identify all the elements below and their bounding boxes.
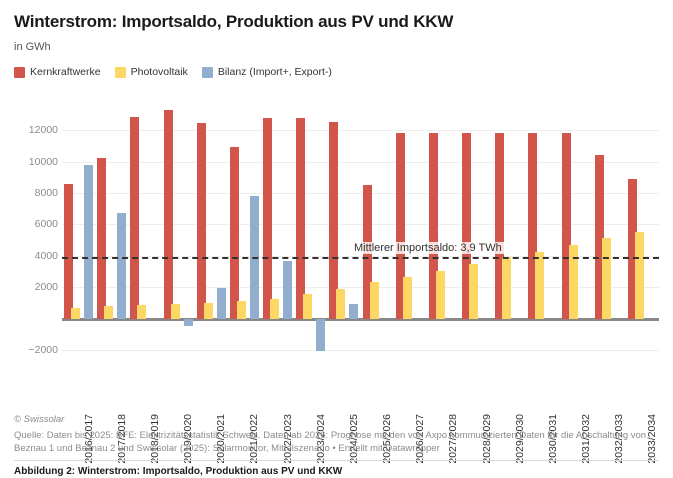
- bar-photovoltaik[interactable]: [71, 308, 80, 319]
- bar-group: [62, 105, 95, 350]
- bar-group: [361, 105, 394, 350]
- bar-photovoltaik[interactable]: [104, 306, 113, 318]
- credit-text: © Swissolar: [14, 414, 659, 426]
- bar-bilanz[interactable]: [349, 304, 358, 319]
- bar-bilanz[interactable]: [117, 213, 126, 318]
- bar-kernkraftwerke[interactable]: [164, 110, 173, 319]
- bar-group: [593, 105, 626, 350]
- y-tick-label-12000: 12000: [12, 124, 58, 136]
- bar-photovoltaik[interactable]: [469, 264, 478, 319]
- annotation-label: Mittlerer Importsaldo: 3,9 TWh: [352, 242, 504, 254]
- plot-canvas: Mittlerer Importsaldo: 3,9 TWh: [62, 105, 659, 350]
- legend-label-kernkraftwerke: Kernkraftwerke: [30, 66, 101, 78]
- bar-photovoltaik[interactable]: [602, 238, 611, 319]
- legend-label-photovoltaik: Photovoltaik: [131, 66, 188, 78]
- bar-photovoltaik[interactable]: [370, 282, 379, 318]
- legend-item-photovoltaik[interactable]: Photovoltaik: [115, 66, 188, 78]
- plot-area: Mittlerer Importsaldo: 3,9 TWh −20002000…: [14, 105, 659, 350]
- bar-photovoltaik[interactable]: [336, 289, 345, 319]
- legend-label-bilanz: Bilanz (Import+, Export-): [218, 66, 332, 78]
- legend-item-kernkraftwerke[interactable]: Kernkraftwerke: [14, 66, 101, 78]
- bar-bilanz[interactable]: [217, 288, 226, 319]
- bar-group: [162, 105, 195, 350]
- bar-kernkraftwerke[interactable]: [64, 184, 73, 319]
- bar-group: [294, 105, 327, 350]
- bar-photovoltaik[interactable]: [502, 257, 511, 319]
- bar-group: [128, 105, 161, 350]
- legend-item-bilanz[interactable]: Bilanz (Import+, Export-): [202, 66, 332, 78]
- bar-kernkraftwerke[interactable]: [97, 158, 106, 318]
- y-tick-label-2000: 2000: [12, 281, 58, 293]
- bar-photovoltaik[interactable]: [535, 252, 544, 319]
- bar-group: [626, 105, 659, 350]
- chart-title: Winterstrom: Importsaldo, Produktion aus…: [14, 0, 659, 32]
- chart-subtitle: in GWh: [14, 41, 659, 54]
- y-tick-label-10000: 10000: [12, 156, 58, 168]
- bar-photovoltaik[interactable]: [204, 303, 213, 318]
- bar-bilanz[interactable]: [283, 261, 292, 319]
- bar-group: [560, 105, 593, 350]
- bar-bilanz[interactable]: [84, 165, 93, 318]
- bar-photovoltaik[interactable]: [171, 304, 180, 318]
- bar-bilanz[interactable]: [184, 319, 193, 327]
- bar-kernkraftwerke[interactable]: [197, 123, 206, 319]
- bar-groups: [62, 105, 659, 350]
- bar-group: [493, 105, 526, 350]
- y-tick-label-8000: 8000: [12, 187, 58, 199]
- bar-bilanz[interactable]: [316, 319, 325, 351]
- legend-swatch-kernkraftwerke: [14, 67, 25, 78]
- bar-group: [327, 105, 360, 350]
- bar-photovoltaik[interactable]: [270, 299, 279, 319]
- bar-photovoltaik[interactable]: [436, 271, 445, 319]
- bar-kernkraftwerke[interactable]: [263, 118, 272, 318]
- chart-legend: KernkraftwerkePhotovoltaikBilanz (Import…: [14, 65, 659, 79]
- bar-photovoltaik[interactable]: [237, 301, 246, 319]
- y-tick-label-4000: 4000: [12, 250, 58, 262]
- gridline--2000: [62, 350, 659, 351]
- bar-kernkraftwerke[interactable]: [230, 147, 239, 319]
- bar-group: [394, 105, 427, 350]
- y-tick-label--2000: −2000: [12, 344, 58, 356]
- bar-photovoltaik[interactable]: [137, 305, 146, 318]
- chart-page: Winterstrom: Importsaldo, Produktion aus…: [0, 0, 673, 474]
- legend-swatch-bilanz: [202, 67, 213, 78]
- bar-group: [460, 105, 493, 350]
- bar-photovoltaik[interactable]: [635, 232, 644, 318]
- bar-kernkraftwerke[interactable]: [130, 117, 139, 319]
- legend-swatch-photovoltaik: [115, 67, 126, 78]
- y-tick-label-6000: 6000: [12, 218, 58, 230]
- figure-caption: Abbildung 2: Winterstrom: Importsaldo, P…: [14, 460, 659, 478]
- bar-group: [195, 105, 228, 350]
- x-axis-labels: 2016/20172017/20182018/20192019/20202020…: [62, 352, 673, 418]
- chart-footer: © Swissolar Quelle: Daten bis 2025: BFE:…: [14, 414, 659, 478]
- annotation-line: [62, 257, 659, 259]
- bar-photovoltaik[interactable]: [569, 245, 578, 319]
- bar-group: [261, 105, 294, 350]
- bar-group: [228, 105, 261, 350]
- bar-photovoltaik[interactable]: [403, 277, 412, 319]
- bar-group: [95, 105, 128, 350]
- bar-kernkraftwerke[interactable]: [296, 118, 305, 319]
- bar-group: [526, 105, 559, 350]
- bar-group: [427, 105, 460, 350]
- source-text: Quelle: Daten bis 2025: BFE: Elektrizitä…: [14, 430, 657, 455]
- bar-photovoltaik[interactable]: [303, 294, 312, 318]
